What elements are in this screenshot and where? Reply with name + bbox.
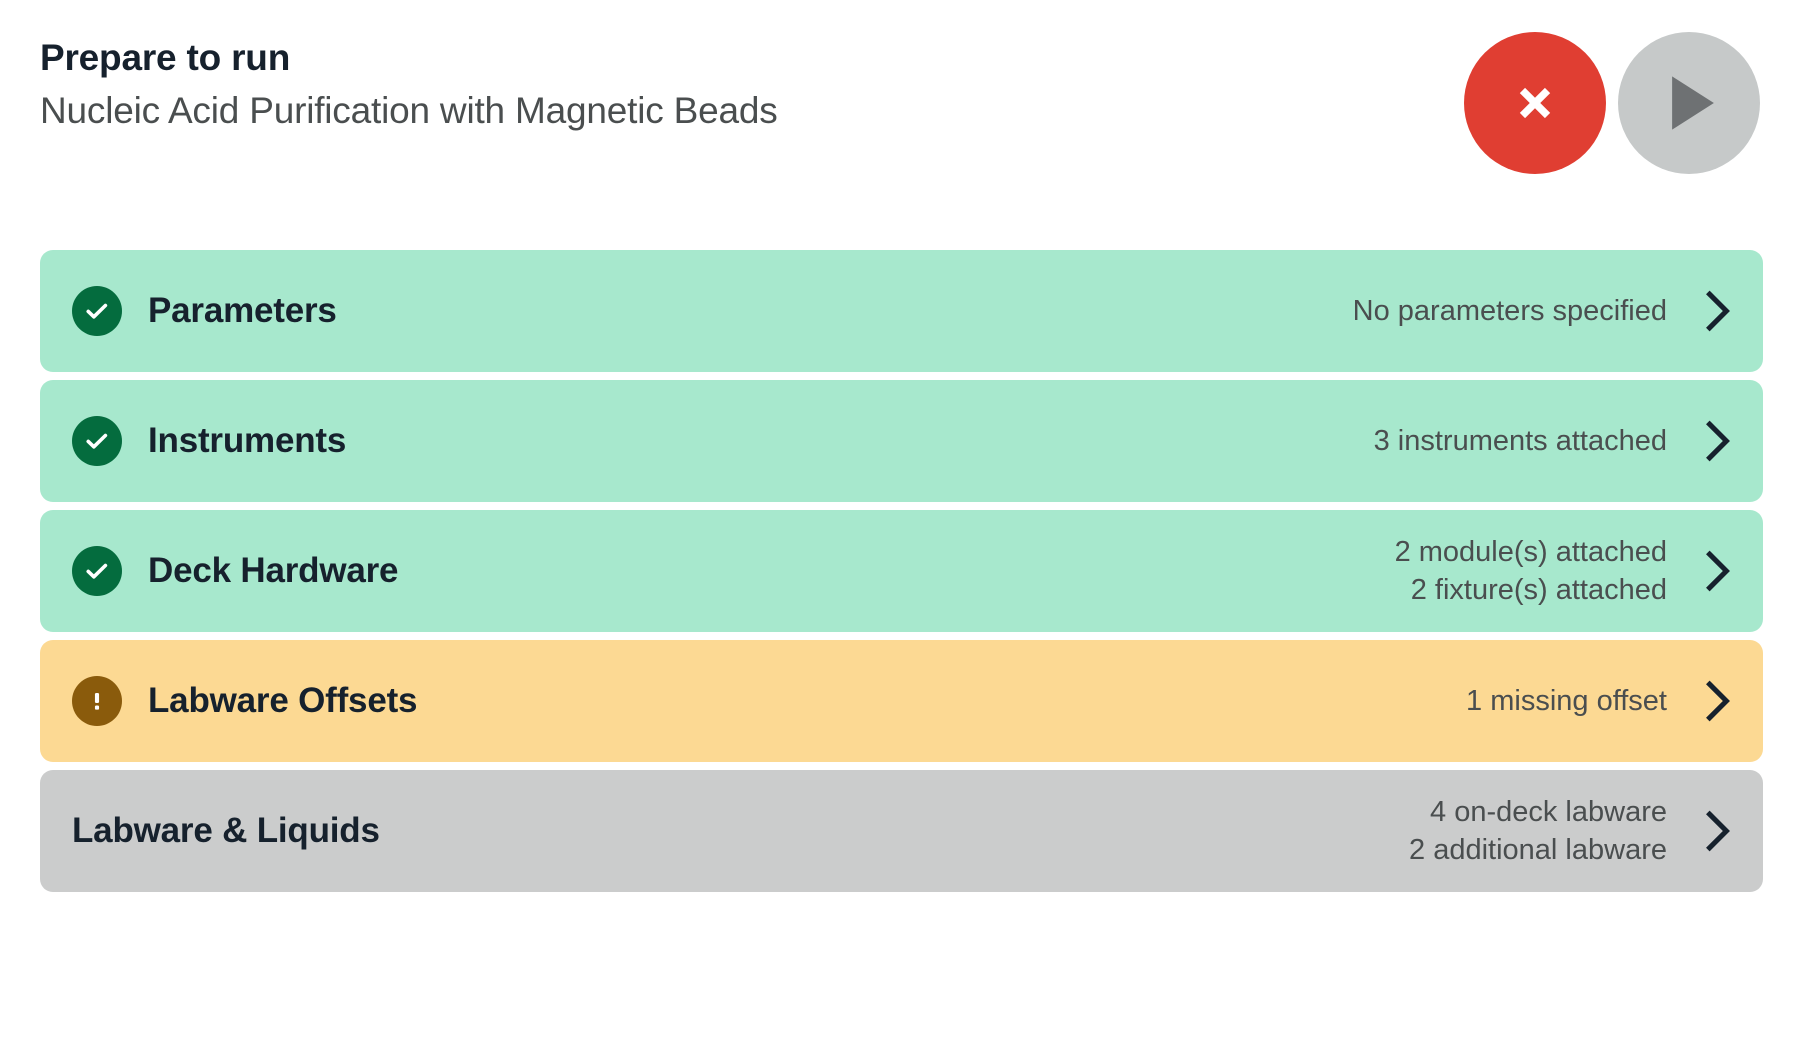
detail-line: 2 fixture(s) attached [1395,571,1667,609]
page-header: Prepare to run Nucleic Acid Purification… [40,22,1760,197]
setup-step-right: 1 missing offset [1466,680,1733,722]
setup-step-detail: No parameters specified [1353,292,1667,330]
setup-steps-list: Parameters No parameters specified Instr [40,250,1763,892]
detail-line: 2 additional labware [1409,831,1667,869]
check-circle-icon [72,546,122,596]
header-actions [1464,32,1760,174]
setup-step-label: Labware Offsets [148,681,417,721]
prepare-to-run-screen: Prepare to run Nucleic Acid Purification… [0,0,1800,1051]
setup-step-label: Labware & Liquids [72,811,380,851]
setup-step-detail: 1 missing offset [1466,682,1667,720]
cancel-run-button[interactable] [1464,32,1606,174]
detail-line: No parameters specified [1353,292,1667,330]
detail-line: 2 module(s) attached [1395,533,1667,571]
setup-step-detail: 4 on-deck labware 2 additional labware [1409,793,1667,870]
close-x-icon [1507,75,1563,131]
setup-step-detail: 2 module(s) attached 2 fixture(s) attach… [1395,533,1667,610]
setup-step-labware-offsets[interactable]: Labware Offsets 1 missing offset [40,640,1763,762]
play-triangle-icon [1658,74,1720,132]
alert-circle-icon [72,676,122,726]
chevron-right-icon[interactable] [1703,550,1733,592]
setup-step-deck-hardware[interactable]: Deck Hardware 2 module(s) attached 2 fix… [40,510,1763,632]
setup-step-label: Deck Hardware [148,551,398,591]
check-circle-icon [72,286,122,336]
setup-step-instruments[interactable]: Instruments 3 instruments attached [40,380,1763,502]
setup-step-right: 3 instruments attached [1374,420,1733,462]
detail-line: 4 on-deck labware [1409,793,1667,831]
start-run-button[interactable] [1618,32,1760,174]
chevron-right-icon[interactable] [1703,810,1733,852]
chevron-right-icon[interactable] [1703,680,1733,722]
setup-step-right: 2 module(s) attached 2 fixture(s) attach… [1395,533,1733,610]
setup-step-label: Instruments [148,421,346,461]
header-text-block: Prepare to run Nucleic Acid Purification… [40,34,778,136]
setup-step-label: Parameters [148,291,337,331]
setup-step-parameters[interactable]: Parameters No parameters specified [40,250,1763,372]
setup-step-right: No parameters specified [1353,290,1733,332]
setup-step-detail: 3 instruments attached [1374,422,1667,460]
chevron-right-icon[interactable] [1703,420,1733,462]
check-circle-icon [72,416,122,466]
setup-step-labware-and-liquids[interactable]: Labware & Liquids 4 on-deck labware 2 ad… [40,770,1763,892]
page-title: Prepare to run [40,34,778,83]
detail-line: 1 missing offset [1466,682,1667,720]
chevron-right-icon[interactable] [1703,290,1733,332]
detail-line: 3 instruments attached [1374,422,1667,460]
setup-step-right: 4 on-deck labware 2 additional labware [1409,793,1733,870]
protocol-name: Nucleic Acid Purification with Magnetic … [40,87,778,136]
